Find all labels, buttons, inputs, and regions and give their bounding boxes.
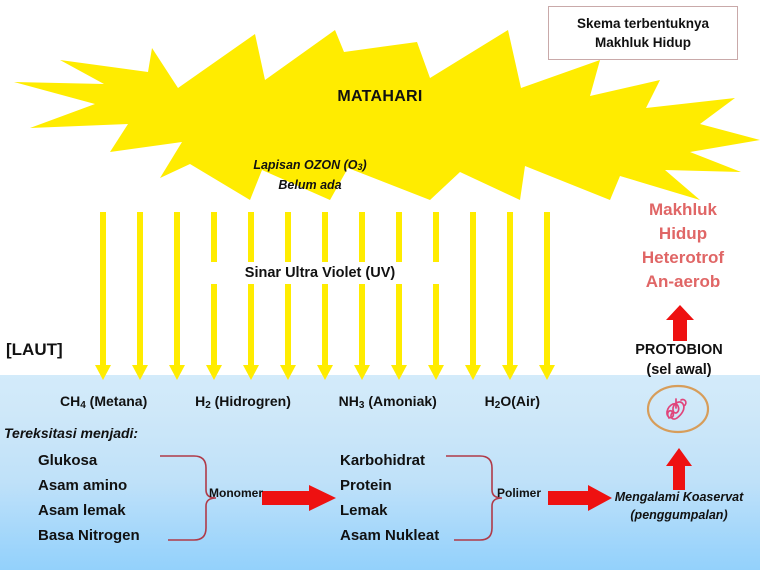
list-item: Asam Nukleat (340, 523, 439, 548)
uv-ray (544, 212, 550, 367)
molecule-item: CH4 (Metana) (60, 393, 147, 411)
list-item: Glukosa (38, 448, 140, 473)
uv-ray (470, 212, 476, 367)
protobion-line-2: (sel awal) (646, 362, 711, 378)
list-item: Asam amino (38, 473, 140, 498)
uv-ray-arrowhead (317, 365, 333, 380)
polimer-label: Polimer (497, 486, 541, 500)
koaservat-line-2: (penggumpalan) (630, 508, 727, 522)
polymer-list: Karbohidrat Protein Lemak Asam Nukleat (340, 448, 439, 548)
uv-ray (248, 212, 254, 367)
uv-ray-arrowhead (280, 365, 296, 380)
polimer-brace (444, 452, 504, 549)
uv-ray-arrowhead (95, 365, 111, 380)
uv-ray (174, 212, 180, 367)
molecule-row: CH4 (Metana) H2 (Hidrogren) NH3 (Amoniak… (60, 393, 540, 411)
uv-ray-arrowhead (243, 365, 259, 380)
uv-ray (100, 212, 106, 367)
monomer-brace (158, 452, 218, 549)
excited-list: Glukosa Asam amino Asam lemak Basa Nitro… (38, 448, 140, 548)
uv-ray (359, 212, 365, 367)
uv-ray-arrowhead (169, 365, 185, 380)
molecule-item: NH3 (Amoniak) (339, 393, 437, 411)
sea-label: [LAUT] (4, 340, 65, 360)
protobion-line-1: PROTOBION (632, 342, 726, 358)
excited-heading: Tereksitasi menjadi: (4, 425, 138, 441)
diagram-canvas: MATAHARI Lapisan OZON (O3) Belum ada Ske… (0, 0, 760, 570)
heterotrof-text: Makhluk Hidup Heterotrof An-aerob (618, 198, 748, 294)
heterotrof-line-1: Makhluk (649, 200, 717, 219)
heterotrof-line-4: An-aerob (646, 272, 721, 291)
list-item: Karbohidrat (340, 448, 439, 473)
uv-ray (285, 212, 291, 367)
uv-ray (137, 212, 143, 367)
uv-ray-arrowhead (539, 365, 555, 380)
monomer-label: Monomer (209, 486, 263, 500)
protobion-cell-icon (645, 382, 711, 441)
list-item: Lemak (340, 498, 439, 523)
uv-ray-arrowhead (502, 365, 518, 380)
monomer-to-polymer-arrow (262, 485, 337, 516)
uv-ray (211, 212, 217, 367)
uv-ray (433, 212, 439, 367)
uv-ray-arrowhead (428, 365, 444, 380)
uv-ray-arrowhead (206, 365, 222, 380)
uv-label: Sinar Ultra Violet (UV) (200, 265, 440, 281)
uv-ray-arrowhead (465, 365, 481, 380)
uv-ray-arrowhead (132, 365, 148, 380)
uv-ray-arrowhead (354, 365, 370, 380)
protobion-label: PROTOBION (sel awal) (600, 340, 758, 380)
molecule-item: H2 (Hidrogren) (195, 393, 291, 411)
uv-ray (507, 212, 513, 367)
koaservat-to-protobion-arrow (666, 448, 692, 495)
list-item: Basa Nitrogen (38, 523, 140, 548)
heterotrof-line-3: Heterotrof (642, 248, 724, 267)
molecule-item: H2O(Air) (485, 393, 540, 411)
uv-ray (322, 212, 328, 367)
uv-ray (396, 212, 402, 367)
list-item: Asam lemak (38, 498, 140, 523)
heterotrof-line-2: Hidup (659, 224, 707, 243)
list-item: Protein (340, 473, 439, 498)
uv-ray-arrowhead (391, 365, 407, 380)
